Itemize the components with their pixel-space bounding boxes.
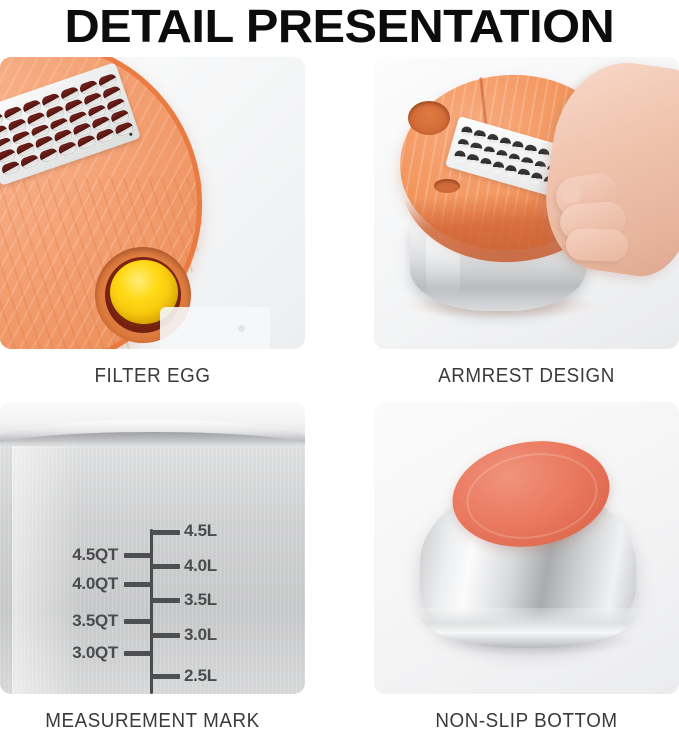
fingernail — [562, 181, 580, 203]
table-surface — [160, 307, 270, 349]
panel-measurement-mark-image[interactable]: 4.5QT 4.0QT 3.5QT 3.0QT 4.5L 4.0L 3.5L 3… — [0, 402, 305, 694]
scale-tick-l — [152, 530, 180, 535]
scale-tick-qt — [124, 582, 152, 587]
scale-label-l: 3.0L — [184, 625, 217, 645]
scale-tick-qt — [124, 553, 152, 558]
panel-non-slip-bottom-image[interactable] — [374, 402, 679, 694]
scale-tick-l — [152, 674, 180, 679]
page-title: DETAIL PRESENTATION — [0, 0, 679, 52]
finger — [565, 228, 628, 262]
panel-caption: NON-SLIP BOTTOM — [383, 710, 670, 733]
surface-speck — [238, 325, 245, 332]
panel-caption: ARMREST DESIGN — [383, 365, 670, 388]
panel-measurement-mark[interactable]: 4.5QT 4.0QT 3.5QT 3.0QT 4.5L 4.0L 3.5L 3… — [0, 402, 305, 733]
egg-separator-well — [408, 101, 450, 135]
scale-label-l: 2.5L — [184, 666, 217, 686]
page-title-text: DETAIL PRESENTATION — [65, 3, 615, 49]
scale-tick-l — [152, 633, 180, 638]
panel-armrest-design-image[interactable] — [374, 57, 679, 349]
scale-tick-qt — [124, 619, 152, 624]
scale-label-qt: 3.5QT — [72, 611, 118, 631]
panel-non-slip-bottom[interactable]: NON-SLIP BOTTOM — [374, 402, 679, 733]
scale-label-l: 4.0L — [184, 556, 217, 576]
scale-label-qt: 4.0QT — [72, 574, 118, 594]
grater-corner-dot — [129, 132, 133, 136]
panel-caption: FILTER EGG — [9, 365, 296, 388]
scale-tick-l — [152, 598, 180, 603]
scale-tick-l — [152, 564, 180, 569]
detail-presentation-page: DETAIL PRESENTATION — [0, 0, 679, 719]
scale-tick-qt — [124, 651, 152, 656]
scale-label-qt: 3.0QT — [72, 643, 118, 663]
scale-label-l: 3.5L — [184, 590, 217, 610]
panel-armrest-design[interactable]: ARMREST DESIGN — [374, 57, 679, 388]
armrest-handle-left — [434, 179, 460, 193]
panel-filter-egg-image[interactable] — [0, 57, 305, 349]
scale-label-l: 4.5L — [184, 521, 217, 541]
scale-label-qt: 4.5QT — [72, 545, 118, 565]
panel-caption: MEASUREMENT MARK — [9, 710, 296, 733]
panel-filter-egg[interactable]: FILTER EGG — [0, 57, 305, 388]
panel-grid: FILTER EGG — [0, 57, 679, 719]
